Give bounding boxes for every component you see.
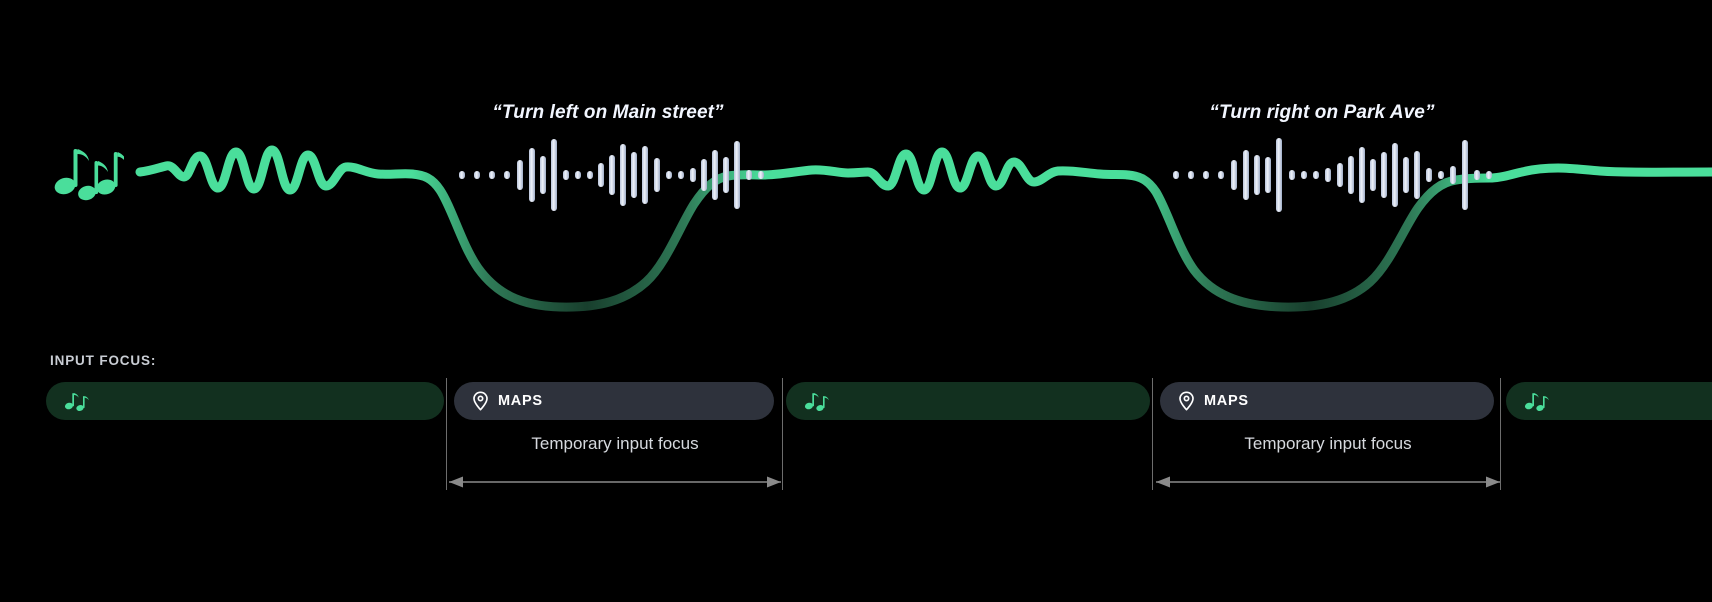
focus-segment-maps-2[interactable]: MAPS	[454, 382, 774, 420]
map-pin-glyph	[472, 391, 489, 411]
media-stream-active-2	[762, 152, 1128, 190]
media-stream-active-1	[140, 150, 412, 190]
focus-segment-maps-4[interactable]: MAPS	[1160, 382, 1494, 420]
focus-segment-media-5[interactable]	[1506, 382, 1712, 420]
temporary-focus-measure-label: Temporary input focus	[1155, 434, 1501, 454]
input-focus-section: INPUT FOCUS: MAPSMAPSTemporary input foc…	[0, 340, 1712, 602]
temporary-focus-measure-label: Temporary input focus	[448, 434, 782, 454]
focus-segment-label: MAPS	[498, 393, 543, 409]
music-notes-glyph	[804, 391, 830, 411]
temporary-focus-span-arrow	[1155, 466, 1501, 490]
temporary-focus-span-arrow	[448, 466, 782, 490]
input-focus-track: MAPSMAPSTemporary input focusTemporary i…	[0, 382, 1712, 602]
focus-segment-label: MAPS	[1204, 393, 1249, 409]
audio-signal-area: “Turn left on Main street” “Turn right o…	[0, 0, 1712, 340]
temporary-focus-measure-2: Temporary input focus	[1155, 434, 1501, 498]
map-pin-glyph	[1178, 391, 1195, 411]
focus-segment-media-1[interactable]	[46, 382, 444, 420]
music-notes-icon	[64, 391, 90, 411]
map-pin-icon	[472, 391, 489, 411]
music-notes-icon	[52, 141, 124, 203]
media-stream-active-3	[1490, 168, 1712, 178]
speech-caption-2: “Turn right on Park Ave”	[1209, 102, 1434, 124]
focus-segment-media-3[interactable]	[786, 382, 1150, 420]
map-pin-icon	[1178, 391, 1195, 411]
speech-waveform-burst-2	[1173, 138, 1492, 212]
audio-waveform-graphic	[0, 0, 1712, 340]
speech-caption-1: “Turn left on Main street”	[492, 102, 723, 124]
media-stream-ducked-1	[412, 174, 762, 307]
screen-root: “Turn left on Main street” “Turn right o…	[0, 0, 1712, 602]
music-notes-glyph	[52, 141, 124, 203]
music-notes-glyph	[64, 391, 90, 411]
input-focus-label: INPUT FOCUS:	[50, 353, 156, 368]
music-notes-icon	[1524, 391, 1550, 411]
focus-boundary-divider-1	[446, 378, 447, 490]
focus-boundary-divider-2	[782, 378, 783, 490]
music-notes-glyph	[1524, 391, 1550, 411]
focus-boundary-divider-3	[1152, 378, 1153, 490]
music-notes-icon	[804, 391, 830, 411]
media-stream-ducked-2	[1128, 175, 1490, 307]
temporary-focus-measure-1: Temporary input focus	[448, 434, 782, 498]
